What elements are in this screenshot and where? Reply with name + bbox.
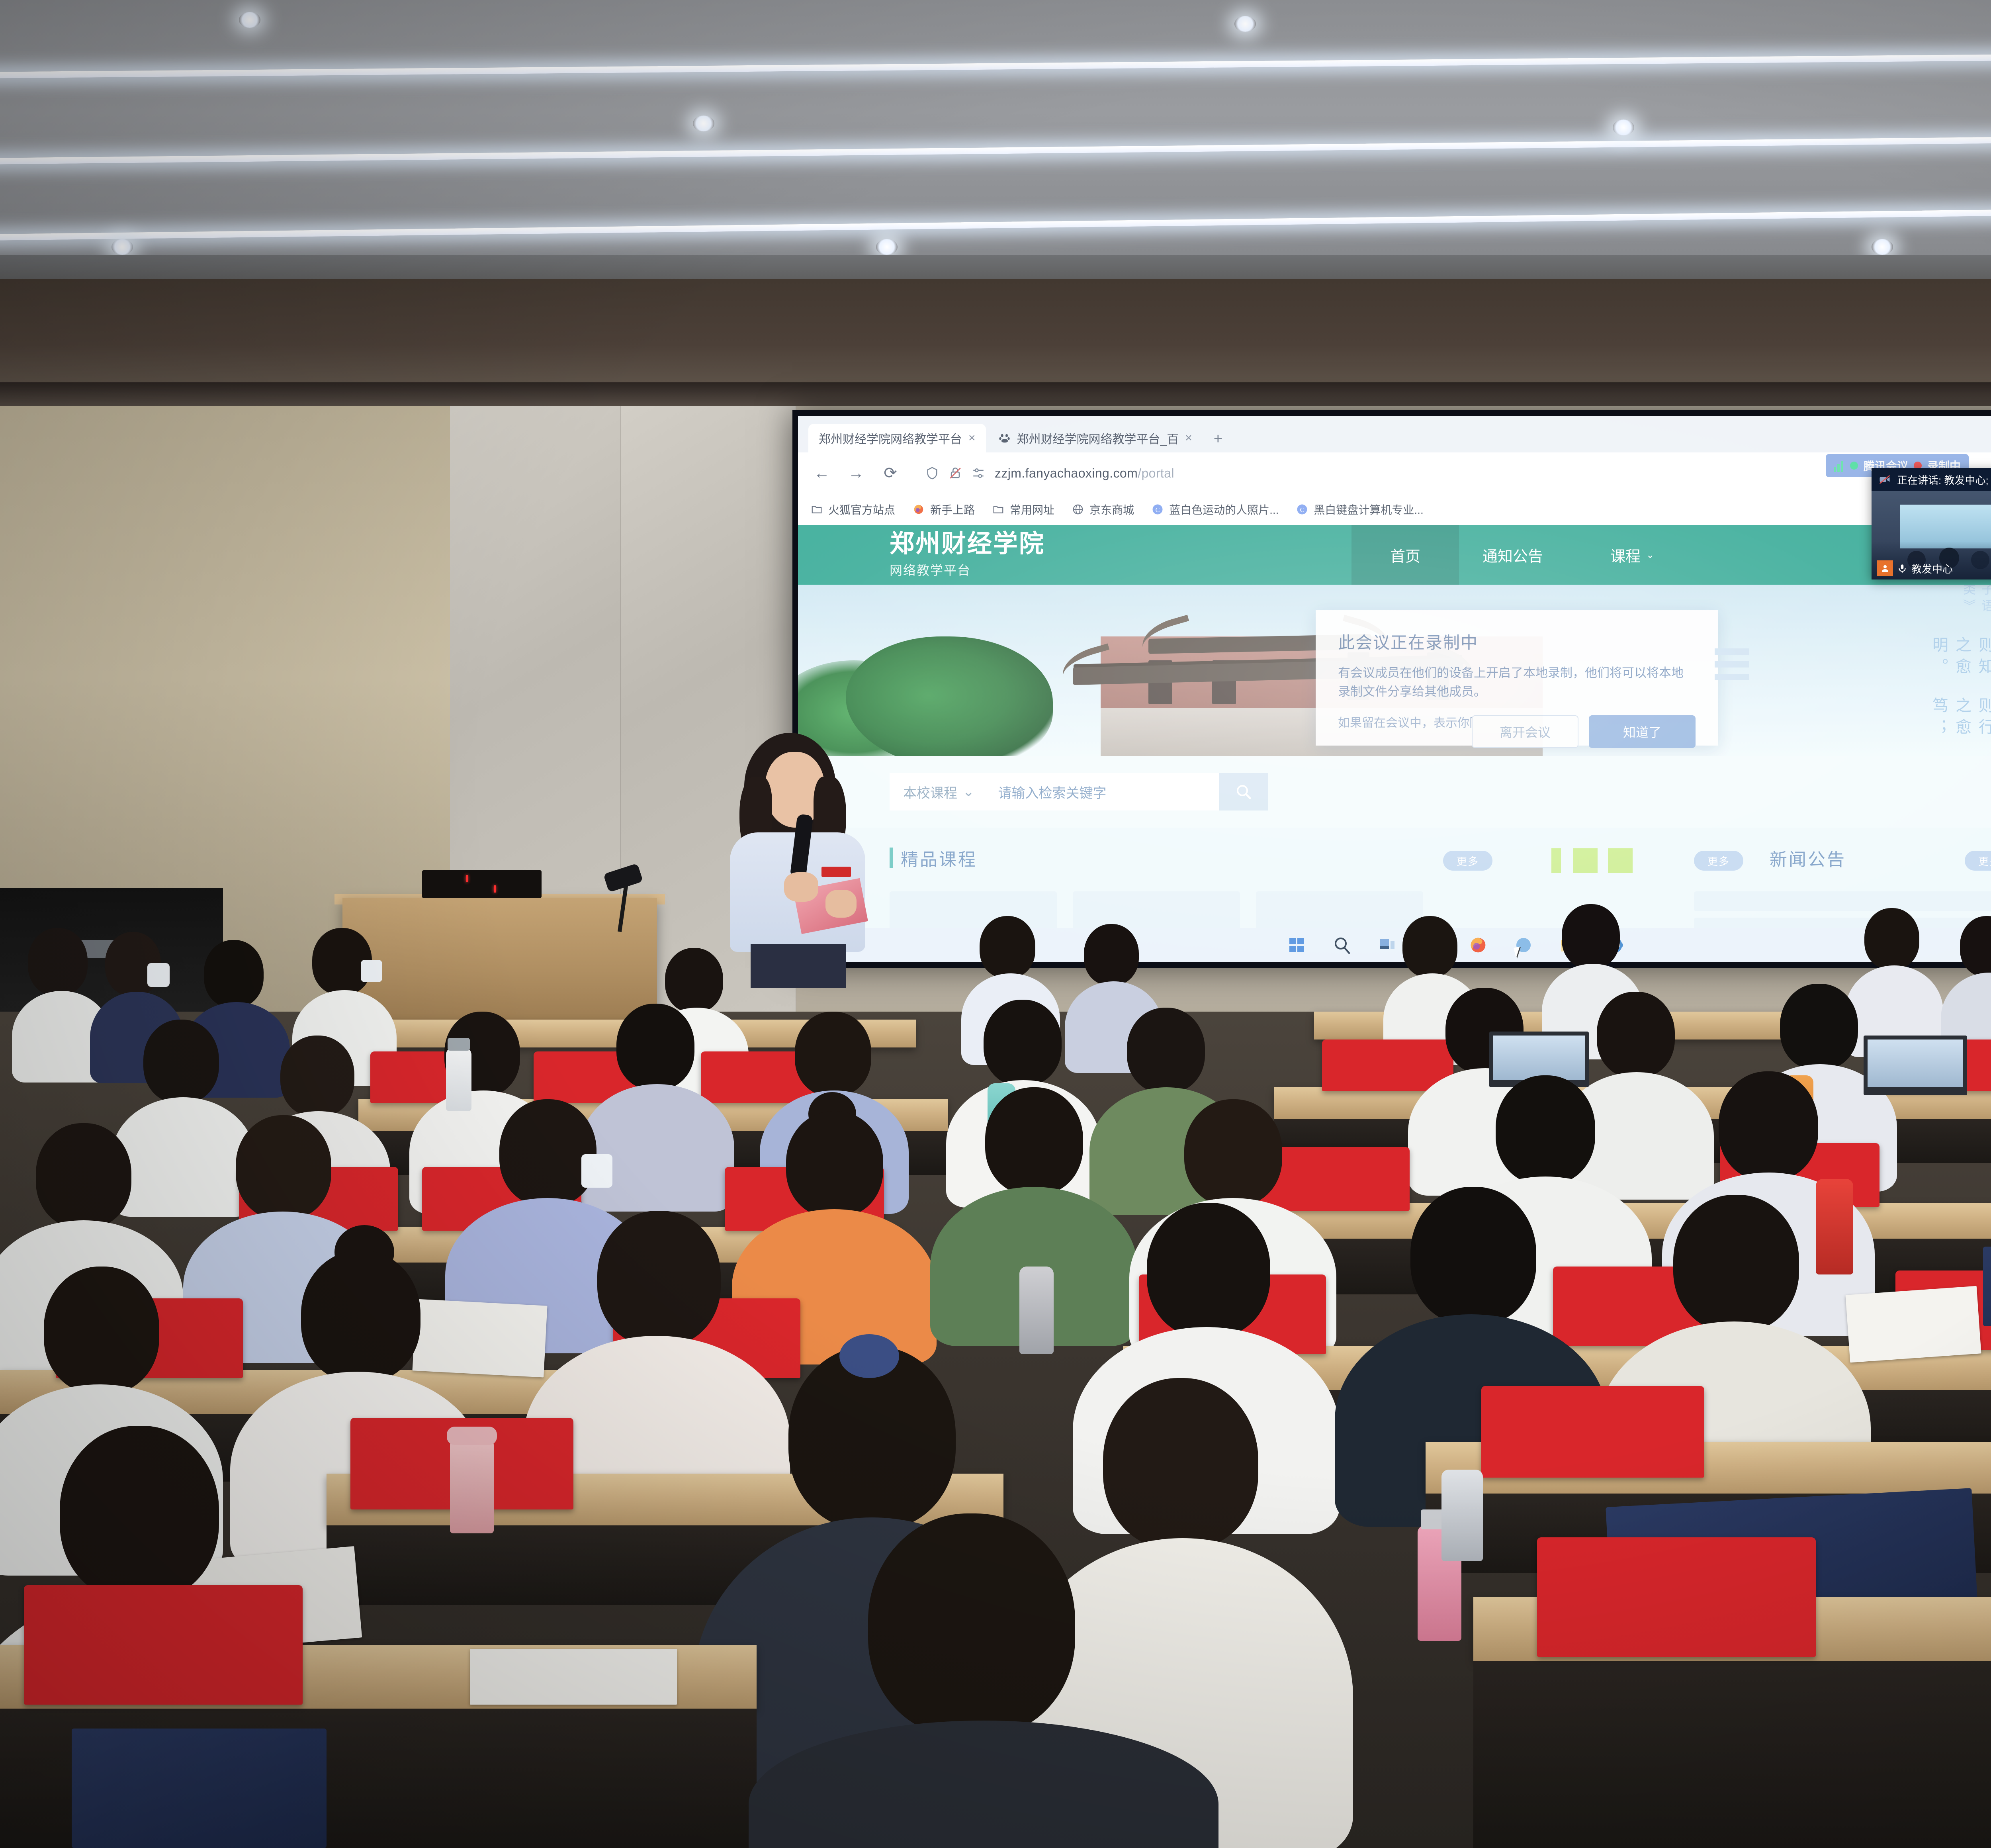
pip-participant: 教发中心 (1877, 560, 1953, 576)
person-icon (1880, 564, 1890, 573)
globe-icon (1072, 503, 1084, 515)
windows-icon[interactable] (1287, 936, 1306, 955)
bookmark-label: 京东商城 (1089, 501, 1134, 517)
nav-item-home[interactable]: 首页 (1351, 525, 1459, 585)
thermos-bottle (1019, 1267, 1054, 1354)
cup (450, 1438, 494, 1533)
presenter-name-badge (821, 867, 851, 877)
bookmark-item[interactable]: 新手上路 (913, 501, 975, 517)
pip-speaking-label: 正在讲话: 教发中心; (1897, 472, 1989, 487)
chevron-down-icon: ⌄ (1646, 549, 1654, 561)
new-tab-button[interactable]: + (1205, 431, 1231, 452)
paper-sheet (470, 1649, 677, 1705)
backpack (72, 1729, 327, 1848)
brand-subtitle: 网络教学平台 (890, 560, 1045, 579)
search-scope-dropdown[interactable]: 本校课程 ⌄ (890, 773, 988, 810)
title-accent-bar (890, 848, 893, 868)
decor-chip (1608, 848, 1633, 873)
browser-tab-inactive[interactable]: 郑州财经学院网络教学平台_百 × (988, 424, 1203, 452)
folder-icon (992, 503, 1004, 515)
presenter-skirt (751, 944, 846, 988)
quote-line-2: 行之愈笃，则知之愈明。 (1927, 636, 1991, 679)
led-strip (0, 200, 1991, 241)
url-path: /portal (1138, 466, 1174, 480)
tab-title: 郑州财经学院网络教学平台 (819, 429, 962, 447)
permissions-icon (972, 466, 985, 480)
presenter (719, 733, 886, 980)
chair (1537, 1537, 1816, 1657)
search-button[interactable] (1219, 773, 1268, 810)
pip-participant-name: 教发中心 (1911, 561, 1953, 576)
chevron-down-icon: ⌄ (963, 784, 974, 800)
bookmarks-bar: 火狐官方站点 新手上路 常用网址 (798, 494, 1991, 525)
pip-video-feed: 教发中心 (1872, 491, 1991, 579)
search-icon[interactable] (1332, 936, 1351, 955)
canva-icon: C (1152, 503, 1164, 515)
more-news-button-left[interactable]: 更多 (1694, 851, 1743, 871)
bookmark-label: 黑白键盘计算机专业... (1314, 501, 1423, 517)
more-news-button-right[interactable]: 更多 (1965, 851, 1991, 871)
search-input[interactable]: 请输入检索关键字 (988, 773, 1219, 810)
search-icon (1234, 782, 1253, 801)
projection-screen: 郑州财经学院网络教学平台 × 郑州财经学院网络教学平台_百 × + (798, 416, 1991, 962)
url-host: zzjm.fanya (995, 466, 1057, 480)
pip-speaking-bar: 正在讲话: 教发中心; (1872, 468, 1991, 491)
mic-icon (1897, 563, 1907, 574)
bookmark-label: 蓝白色运动的人照片... (1169, 501, 1279, 517)
url-text: zzjm.fanyachaoxing.com/portal (995, 466, 1174, 481)
thermos-bottle (1441, 1470, 1483, 1561)
bottle-cap (448, 1038, 470, 1051)
bookmark-label: 常用网址 (1010, 501, 1054, 517)
led-strip (0, 47, 1991, 78)
reload-icon[interactable]: ⟳ (880, 464, 901, 482)
decor-bars (1715, 648, 1749, 680)
more-courses-button[interactable]: 更多 (1443, 851, 1492, 871)
bookmark-label: 新手上路 (930, 501, 975, 517)
browser-tab-bar: 郑州财经学院网络教学平台 × 郑州财经学院网络教学平台_百 × + (798, 416, 1991, 452)
svg-text:C: C (1156, 506, 1160, 513)
quote-line-1: 知之愈明，则行之愈笃； (1927, 697, 1991, 740)
bookmark-item[interactable]: C 黑白键盘计算机专业... (1296, 501, 1423, 517)
section-title-news: 新闻公告 (1770, 845, 1846, 871)
svg-text:C: C (1300, 506, 1305, 513)
audience-member (1943, 916, 1991, 1043)
connection-dot-icon (1850, 462, 1858, 470)
presenter-hand (825, 890, 857, 918)
close-icon[interactable]: × (1185, 431, 1192, 445)
bookmark-label: 火狐官方站点 (828, 501, 895, 517)
downlight (1872, 239, 1893, 255)
classic-quote: 知之愈明，则行之愈笃； 行之愈笃，则知之愈明。 ——宋·朱熹《朱子语类》 (1927, 601, 1991, 740)
notebook (1845, 1286, 1981, 1363)
bookmark-item[interactable]: 京东商城 (1072, 501, 1134, 517)
baidu-icon (999, 432, 1011, 444)
dialog-title: 此会议正在录制中 (1338, 629, 1696, 654)
dialog-body: 有会议成员在他们的设备上开启了本地录制，他们将可以将本地录制文件分享给其他成员。 (1338, 664, 1696, 701)
audience-member-foreground (780, 1513, 1187, 1848)
downlight (111, 239, 133, 255)
led-strip (0, 129, 1991, 164)
downlight (1613, 119, 1634, 135)
brand-name: 郑州财经学院 (890, 531, 1045, 557)
news-item[interactable] (1694, 891, 1991, 911)
section-news-label: 新闻公告 (1770, 845, 1846, 871)
browser-nav-bar: ← → ⟳ (798, 452, 1991, 494)
folder-icon (811, 503, 823, 515)
section-courses-label: 精品课程 (901, 845, 977, 871)
presenter-hand (784, 872, 818, 902)
camera-off-icon (1879, 474, 1891, 485)
downlight (876, 239, 898, 255)
section-title-courses: 精品课程 (890, 845, 977, 871)
signal-bars-icon (1834, 459, 1844, 472)
quote-source: ——宋·朱熹《朱子语类》 (1927, 585, 1991, 619)
site-nav: 首页 通知公告 课程 ⌄ (1351, 525, 1698, 585)
ceiling (0, 0, 1991, 279)
nav-item-courses[interactable]: 课程 ⌄ (1567, 525, 1698, 585)
shield-icon (925, 466, 939, 480)
site-brand[interactable]: 郑州财经学院 网络教学平台 (890, 531, 1045, 578)
chair (24, 1585, 303, 1705)
desk-panel (1473, 1661, 1991, 1848)
bag (1983, 1247, 1991, 1326)
chair (1481, 1386, 1704, 1478)
bookmark-item[interactable]: 火狐官方站点 (811, 501, 895, 517)
lecture-hall-scene: 郑州财经学院网络教学平台 × 郑州财经学院网络教学平台_百 × + (0, 0, 1991, 1848)
search-row: 本校课程 ⌄ 请输入检索关键字 登录 忘记密码 (798, 756, 1991, 828)
tab-title: 郑州财经学院网络教学平台_百 (1017, 429, 1179, 447)
dialog-actions: 离开会议 知道了 (1472, 715, 1696, 748)
audio-amplifier (422, 870, 542, 898)
decor-chip (1551, 848, 1561, 873)
bookmark-item[interactable]: 常用网址 (992, 501, 1054, 517)
cup-lid (447, 1427, 497, 1445)
forward-icon[interactable]: → (846, 464, 866, 482)
laptop (1864, 1036, 1967, 1095)
browser-tab-active[interactable]: 郑州财经学院网络教学平台 × (808, 424, 986, 452)
meeting-pip-window[interactable]: 正在讲话: 教发中心; (1872, 468, 1991, 579)
site-header: 郑州财经学院 网络教学平台 首页 通知公告 课程 ⌄ (798, 525, 1991, 585)
canva-icon: C (1296, 503, 1308, 515)
tracking-protection-icon (949, 466, 962, 480)
search-scope-label: 本校课程 (903, 782, 957, 802)
hero-banner: 此会议正在录制中 有会议成员在他们的设备上开启了本地录制，他们将可以将本地录制文… (798, 585, 1991, 756)
decor-chip (1573, 848, 1598, 873)
nav-item-courses-label: 课程 (1610, 544, 1641, 566)
confirm-button[interactable]: 知道了 (1589, 715, 1696, 748)
url-domain: chaoxing.com (1057, 466, 1138, 480)
bookmark-item[interactable]: C 蓝白色运动的人照片... (1152, 501, 1279, 517)
back-icon[interactable]: ← (812, 464, 832, 482)
downlight (1234, 16, 1256, 32)
downlight (239, 12, 260, 28)
firefox-icon (913, 503, 925, 515)
nav-item-notices[interactable]: 通知公告 (1459, 525, 1567, 585)
close-icon[interactable]: × (968, 431, 976, 445)
downlight (693, 115, 714, 131)
leave-meeting-button[interactable]: 离开会议 (1472, 715, 1578, 748)
recording-dialog: 此会议正在录制中 有会议成员在他们的设备上开启了本地录制，他们将可以将本地录制文… (1316, 610, 1718, 746)
avatar (1877, 560, 1893, 576)
projection-screen-bezel: 郑州财经学院网络教学平台 × 郑州财经学院网络教学平台_百 × + (792, 410, 1991, 968)
